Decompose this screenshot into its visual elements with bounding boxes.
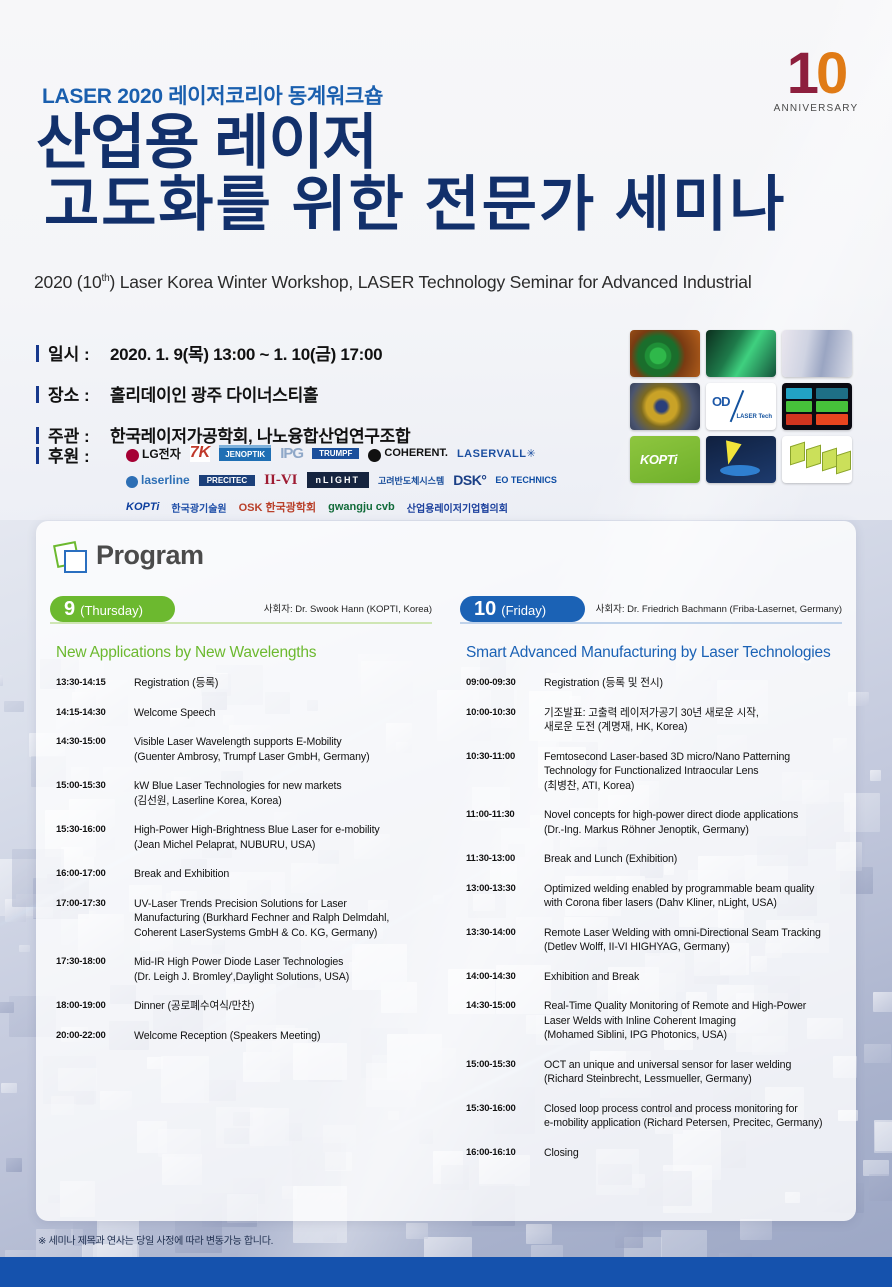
schedule-item: 13:00-13:30Optimized welding enabled by … (466, 882, 842, 911)
schedule-item-description: Mid-IR High Power Diode Laser Technologi… (134, 955, 432, 984)
sponsor-kopti-logo: KOPTi (126, 501, 159, 513)
day-name-10: (Friday) (501, 598, 546, 624)
title-line-2: 고도화를 위한 전문가 세미나 (36, 174, 866, 236)
schedule-item-description: Dinner (공로폐수여식/만찬) (134, 999, 432, 1014)
photo-rgb-laser-bars (782, 383, 852, 430)
program-title: Program (96, 540, 204, 571)
footnote: ※ 세미나 제목과 연사는 당일 사정에 따라 변동가능 합니다. (38, 1232, 273, 1247)
sponsor-nlight-logo: nLIGHT (307, 472, 370, 488)
photo-grid: ODLASER Tech KOPTi (630, 330, 854, 489)
schedule-item-time: 15:00-15:30 (466, 1058, 544, 1087)
english-subtitle: 2020 (10th) Laser Korea Winter Workshop,… (34, 272, 864, 293)
sponsor-kpi-logo: 한국광기술원 (171, 500, 226, 515)
schedule-item-description: Remote Laser Welding with omni-Direction… (544, 926, 842, 955)
sponsor-laservall-logo: LASERVALL✳ (457, 447, 536, 460)
anniversary-logo: 10 ANNIVERSARY (768, 46, 864, 114)
schedule-item-time: 18:00-19:00 (56, 999, 134, 1014)
info-value-date: 2020. 1. 9(목) 13:00 ~ 1. 10(금) 17:00 (110, 340, 382, 365)
schedule-item: 16:00-16:10Closing (466, 1146, 842, 1161)
sponsor-ii-vi-logo: II-VI (264, 472, 297, 489)
schedule-item: 14:30-15:00Real-Time Quality Monitoring … (466, 999, 842, 1043)
sponsor-osk-logo: OSK 한국광학회 (239, 499, 317, 515)
sponsor-precitec-logo: PRECITEC (199, 475, 255, 486)
schedule-item-description: Real-Time Quality Monitoring of Remote a… (544, 999, 842, 1043)
info-label-sponsors: 후원 : (48, 442, 90, 467)
schedule-item: 13:30-14:15Registration (등록) (56, 676, 432, 691)
info-row-venue: 장소 : 홀리데이인 광주 다이너스티홀 (36, 381, 636, 406)
anniversary-number: 10 (768, 46, 864, 102)
schedule-item-description: Break and Exhibition (134, 867, 432, 882)
schedule-item-time: 14:30-15:00 (466, 999, 544, 1043)
schedule-item-description: Closed loop process control and process … (544, 1102, 842, 1131)
photo-green-laser-optics-bench (706, 330, 776, 377)
sponsor-lg-logo: LG전자 (126, 445, 181, 462)
program-column-day-9: 9 (Thursday) 사회자: Dr. Swook Hann (KOPTI,… (36, 596, 446, 1175)
sponsor-gwangju-cvb-logo: gwangju cvb (328, 501, 395, 513)
bottom-accent-bar (0, 1257, 892, 1287)
sponsor-industrial-laser-association-logo: 산업용레이저기업협의회 (407, 500, 508, 515)
schedule-item-time: 11:00-11:30 (466, 808, 544, 837)
schedule-item-time: 10:30-11:00 (466, 750, 544, 794)
program-heading: Program (55, 540, 204, 571)
info-row-date: 일시 : 2020. 1. 9(목) 13:00 ~ 1. 10(금) 17:0… (36, 340, 636, 365)
schedule-item-time: 14:00-14:30 (466, 970, 544, 985)
schedule-item: 14:15-14:30Welcome Speech (56, 706, 432, 721)
subtitle-post: ) Laser Korea Winter Workshop, LASER Tec… (109, 272, 751, 292)
day-bar-9: 9 (Thursday) 사회자: Dr. Swook Hann (KOPTI,… (50, 596, 432, 622)
schedule-item-description: Break and Lunch (Exhibition) (544, 852, 842, 867)
program-squares-icon (55, 541, 85, 571)
sponsor-trumpf-logo: TRUMPF (312, 448, 359, 459)
schedule-item-description: Optimized welding enabled by programmabl… (544, 882, 842, 911)
photo-laser-marked-green-part (630, 330, 700, 377)
bullet-bar-icon (36, 386, 39, 403)
anniversary-word: ANNIVERSARY (768, 103, 864, 114)
schedule-item: 15:30-16:00High-Power High-Brightness Bl… (56, 823, 432, 852)
sponsor-korea-semiconductor-logo: 고려반도체시스템 (378, 474, 444, 487)
schedule-item: 14:00-14:30Exhibition and Break (466, 970, 842, 985)
schedule-item-time: 13:00-13:30 (466, 882, 544, 911)
schedule-item-description: OCT an unique and universal sensor for l… (544, 1058, 842, 1087)
schedule-item: 17:00-17:30UV-Laser Trends Precision Sol… (56, 897, 432, 941)
event-kicker: LASER 2020 레이저코리아 동계워크숍 (42, 80, 383, 110)
bullet-bar-icon (36, 345, 39, 362)
schedule-item-description: Welcome Reception (Speakers Meeting) (134, 1029, 432, 1044)
schedule-item-time: 17:00-17:30 (56, 897, 134, 941)
schedule-item-description: Closing (544, 1146, 842, 1161)
page-title: 산업용 레이저 고도화를 위한 전문가 세미나 (36, 112, 866, 236)
schedule-item-time: 15:30-16:00 (56, 823, 134, 852)
info-value-venue: 홀리데이인 광주 다이너스티홀 (110, 381, 318, 406)
schedule-item: 11:30-13:00Break and Lunch (Exhibition) (466, 852, 842, 867)
day-number-9: 9 (64, 596, 75, 622)
schedule-item-time: 16:00-16:10 (466, 1146, 544, 1161)
schedule-item: 13:30-14:00Remote Laser Welding with omn… (466, 926, 842, 955)
sponsor-laserline-logo: laserline (126, 473, 190, 487)
photo-focused-beam-optic (630, 383, 700, 430)
photo-laser-machine-lab (782, 330, 852, 377)
schedule-item-time: 17:30-18:00 (56, 955, 134, 984)
schedule-item-description: UV-Laser Trends Precision Solutions for … (134, 897, 432, 941)
session-title-day-9: New Applications by New Wavelengths (56, 644, 432, 662)
schedule-item-time: 13:30-14:15 (56, 676, 134, 691)
sponsor-hk-logo: 7K (190, 444, 210, 462)
sponsor-section: 후원 : LG전자 7K JENOPTIK IPG TRUMPF COHEREN… (36, 442, 616, 523)
sponsor-dsk-logo: DSK° (453, 472, 486, 488)
bullet-bar-icon (36, 447, 39, 464)
chair-day-10: 사회자: Dr. Friedrich Bachmann (Friba-Laser… (585, 601, 842, 617)
day-number-10: 10 (474, 596, 496, 622)
schedule-item: 14:30-15:00Visible Laser Wavelength supp… (56, 735, 432, 764)
schedule-list-day-10: 09:00-09:30Registration (등록 및 전시)10:00-1… (466, 676, 842, 1160)
schedule-list-day-9: 13:30-14:15Registration (등록)14:15-14:30W… (56, 676, 432, 1043)
schedule-item: 17:30-18:00Mid-IR High Power Diode Laser… (56, 955, 432, 984)
poster-header: LASER 2020 레이저코리아 동계워크숍 산업용 레이저 고도화를 위한 … (0, 0, 892, 520)
schedule-item: 18:00-19:00Dinner (공로폐수여식/만찬) (56, 999, 432, 1014)
schedule-item: 09:00-09:30Registration (등록 및 전시) (466, 676, 842, 691)
schedule-item-time: 14:30-15:00 (56, 735, 134, 764)
info-label-venue: 장소 : (48, 381, 110, 406)
schedule-item-description: Femtosecond Laser-based 3D micro/Nano Pa… (544, 750, 842, 794)
program-columns: 9 (Thursday) 사회자: Dr. Swook Hann (KOPTI,… (36, 596, 856, 1175)
schedule-item-description: High-Power High-Brightness Blue Laser fo… (134, 823, 432, 852)
day-bar-10: 10 (Friday) 사회자: Dr. Friedrich Bachmann … (460, 596, 842, 622)
schedule-item-description: Exhibition and Break (544, 970, 842, 985)
sponsor-row-3: KOPTi 한국광기술원 OSK 한국광학회 gwangju cvb 산업용레이… (126, 496, 616, 518)
schedule-item: 10:00-10:30기조발표: 고출력 레이저가공기 30년 새로운 시작,새… (466, 706, 842, 735)
schedule-item-description: Registration (등록 및 전시) (544, 676, 842, 691)
subtitle-pre: 2020 (10 (34, 272, 102, 292)
schedule-item-description: Registration (등록) (134, 676, 432, 691)
schedule-item-description: 기조발표: 고출력 레이저가공기 30년 새로운 시작,새로운 도전 (계명재,… (544, 706, 842, 735)
sponsor-coherent-logo: COHERENT. (368, 447, 448, 460)
sponsor-ipg-logo: IPG (280, 445, 303, 462)
schedule-item: 10:30-11:00Femtosecond Laser-based 3D mi… (466, 750, 842, 794)
sponsor-row-2: laserline PRECITEC II-VI nLIGHT 고려반도체시스템… (126, 469, 616, 491)
schedule-item-description: Welcome Speech (134, 706, 432, 721)
schedule-item: 15:00-15:30OCT an unique and universal s… (466, 1058, 842, 1087)
schedule-item-time: 10:00-10:30 (466, 706, 544, 735)
sponsor-eotechnics-logo: EO TECHNICS (495, 475, 557, 485)
day-tag-9[interactable]: 9 (Thursday) (50, 596, 175, 622)
schedule-item-description: Novel concepts for high-power direct dio… (544, 808, 842, 837)
schedule-item-time: 15:00-15:30 (56, 779, 134, 808)
schedule-item: 15:30-16:00Closed loop process control a… (466, 1102, 842, 1131)
day-tag-10[interactable]: 10 (Friday) (460, 596, 585, 622)
schedule-item-time: 20:00-22:00 (56, 1029, 134, 1044)
photo-laser-beam-diagram (706, 436, 776, 483)
photo-kopti-logo: KOPTi (630, 436, 700, 483)
schedule-item-description: Visible Laser Wavelength supports E-Mobi… (134, 735, 432, 764)
schedule-item-time: 14:15-14:30 (56, 706, 134, 721)
schedule-item-time: 13:30-14:00 (466, 926, 544, 955)
info-label-date: 일시 : (48, 340, 110, 365)
anniversary-digit-0: 0 (816, 41, 845, 106)
session-title-day-10: Smart Advanced Manufacturing by Laser Te… (466, 644, 842, 662)
sponsor-row-1: LG전자 7K JENOPTIK IPG TRUMPF COHERENT. LA… (126, 442, 616, 464)
schedule-item-time: 09:00-09:30 (466, 676, 544, 691)
anniversary-digit-1: 1 (787, 41, 816, 106)
schedule-item-description: kW Blue Laser Technologies for new marke… (134, 779, 432, 808)
program-column-day-10: 10 (Friday) 사회자: Dr. Friedrich Bachmann … (446, 596, 856, 1175)
schedule-item: 15:00-15:30kW Blue Laser Technologies fo… (56, 779, 432, 808)
photo-od-laser-tech-logo: ODLASER Tech (706, 383, 776, 430)
sponsor-jenoptik-logo: JENOPTIK (219, 445, 271, 461)
day-name-9: (Thursday) (80, 598, 143, 624)
chair-day-9: 사회자: Dr. Swook Hann (KOPTI, Korea) (175, 601, 432, 617)
schedule-item-time: 16:00-17:00 (56, 867, 134, 882)
schedule-item: 20:00-22:00Welcome Reception (Speakers M… (56, 1029, 432, 1044)
schedule-item-time: 11:30-13:00 (466, 852, 544, 867)
schedule-item-time: 15:30-16:00 (466, 1102, 544, 1131)
schedule-item: 16:00-17:00Break and Exhibition (56, 867, 432, 882)
schedule-item: 11:00-11:30Novel concepts for high-power… (466, 808, 842, 837)
photo-optical-train-diagram (782, 436, 852, 483)
title-line-1: 산업용 레이저 (36, 109, 377, 176)
